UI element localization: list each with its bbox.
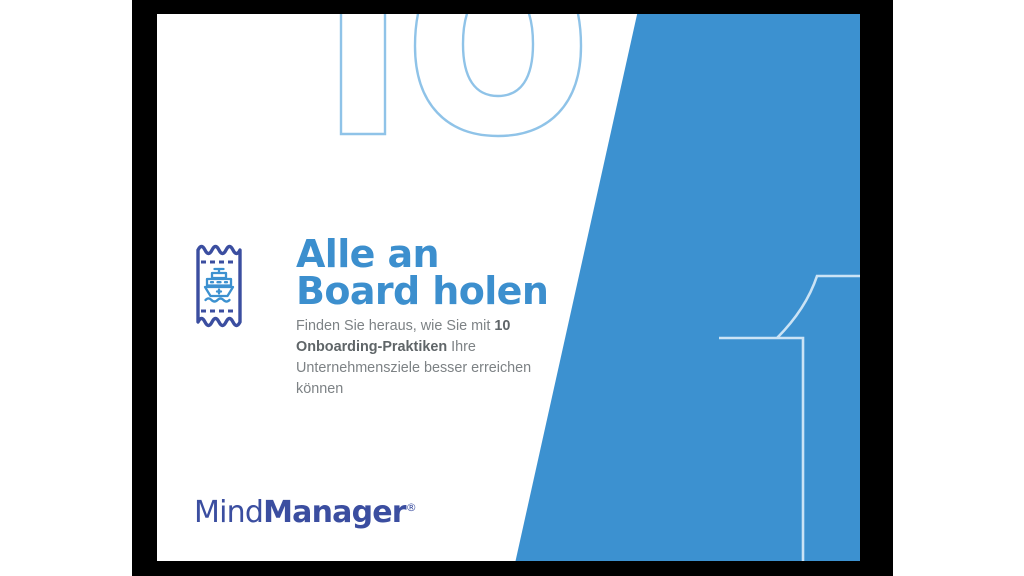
page-title: Alle an Board holen: [296, 236, 614, 310]
page-root: Alle an Board holen Finden Sie heraus, w…: [0, 0, 1024, 576]
decorative-numeral-10-top: [175, 14, 595, 180]
headline-text-group: Alle an Board holen Finden Sie heraus, w…: [296, 236, 614, 400]
headline-block: Alle an Board holen Finden Sie heraus, w…: [194, 236, 614, 400]
presentation-slide: Alle an Board holen Finden Sie heraus, w…: [157, 14, 860, 561]
subtitle: Finden Sie heraus, wie Sie mit 10 Onboar…: [296, 316, 556, 401]
logo-word-manager: Manager: [263, 495, 406, 530]
subtitle-part1: Finden Sie heraus, wie Sie mit: [296, 318, 494, 334]
logo-word-mind: Mind: [194, 495, 263, 530]
registered-trademark-icon: ®: [406, 501, 417, 514]
mindmanager-logo: MindManager®: [194, 498, 417, 528]
ticket-ship-icon: [194, 240, 244, 332]
